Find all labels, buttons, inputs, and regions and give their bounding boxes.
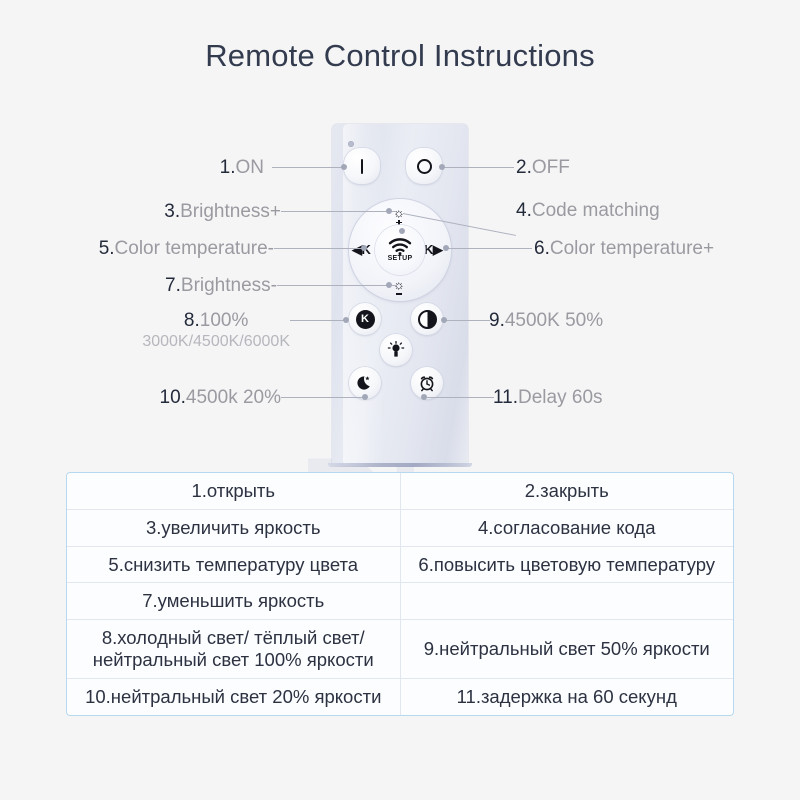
callout-3-number: 3. bbox=[164, 201, 180, 222]
callout-4-text: Code matching bbox=[532, 200, 660, 221]
table-row: 5.снизить температуру цвета 6.повысить ц… bbox=[67, 546, 733, 583]
callout-5-text: Color temperature- bbox=[115, 238, 274, 259]
full-brightness-button[interactable]: K bbox=[349, 303, 381, 335]
table-cell-3: 3.увеличить яркость bbox=[67, 509, 400, 546]
callout-3-text: Brightness+ bbox=[180, 201, 281, 222]
table-cell-11: 11.задержка на 60 секунд bbox=[400, 678, 733, 714]
callout-5-number: 5. bbox=[99, 238, 115, 259]
callout-9-text: 4500K 50% bbox=[505, 310, 603, 331]
callout-11-number: 11. bbox=[493, 387, 518, 408]
delay-timer-button[interactable] bbox=[411, 367, 443, 399]
half-circle-icon bbox=[418, 310, 437, 329]
brightness-down-button[interactable] bbox=[382, 274, 418, 298]
callout-10: 10.4500k 20% bbox=[160, 387, 282, 409]
callout-7-text: Brightness- bbox=[181, 275, 277, 296]
callout-1-number: 1. bbox=[220, 157, 236, 178]
brightness-up-button[interactable] bbox=[382, 202, 418, 226]
table-cell-4: 4.согласование кода bbox=[400, 509, 733, 546]
callout-2: 2.OFF bbox=[516, 157, 570, 179]
callout-2-number: 2. bbox=[516, 157, 532, 178]
callout-10-number: 10. bbox=[160, 387, 186, 408]
callout-8-number: 8. bbox=[184, 310, 200, 331]
callout-2-text: OFF bbox=[532, 157, 570, 178]
table-cell-10: 10.нейтральный свет 20% яркости bbox=[67, 678, 400, 714]
half-brightness-button[interactable] bbox=[411, 303, 443, 335]
page-title: Remote Control Instructions bbox=[0, 38, 800, 74]
table-row: 8.холодный свет/ тёплый свет/ нейтральны… bbox=[67, 620, 733, 679]
callout-9-number: 9. bbox=[489, 310, 505, 331]
setup-label: SETUP bbox=[388, 255, 413, 262]
callout-11: 11.Delay 60s bbox=[493, 387, 603, 409]
k-circle-icon: K bbox=[356, 310, 375, 329]
alarm-clock-icon bbox=[417, 373, 437, 393]
color-temperature-down-button[interactable] bbox=[350, 238, 376, 262]
table-cell-2: 2.закрыть bbox=[400, 473, 733, 509]
callout-7-number: 7. bbox=[165, 275, 181, 296]
callout-1: 1.ON bbox=[220, 157, 264, 179]
power-on-button[interactable] bbox=[344, 148, 380, 184]
callout-3: 3.Brightness+ bbox=[164, 201, 281, 223]
code-matching-setup-button[interactable]: SETUP bbox=[375, 225, 425, 275]
translation-table: 1.открыть 2.закрыть 3.увеличить яркость … bbox=[66, 472, 734, 716]
callout-6-text: Color temperature+ bbox=[550, 238, 714, 259]
table-cell-9: 9.нейтральный свет 50% яркости bbox=[400, 620, 733, 679]
power-off-icon bbox=[417, 159, 432, 174]
wifi-setup-icon bbox=[388, 238, 412, 255]
bulb-icon bbox=[386, 340, 406, 360]
callout-8-subtext: 3000K/4500K/6000K bbox=[142, 333, 290, 351]
callout-10-text: 4500k 20% bbox=[186, 387, 281, 408]
color-temperature-up-button[interactable] bbox=[424, 238, 450, 262]
callout-9: 9.4500K 50% bbox=[489, 310, 603, 332]
callout-11-text: Delay 60s bbox=[518, 387, 603, 408]
callout-6-number: 6. bbox=[534, 238, 550, 259]
callout-8: 8.100% 3000K/4500K/6000K bbox=[142, 310, 290, 351]
power-off-button[interactable] bbox=[406, 148, 442, 184]
table-cell-empty bbox=[400, 583, 733, 620]
callout-4: 4.Code matching bbox=[516, 200, 660, 222]
callout-1-text: ON bbox=[236, 157, 265, 178]
bulb-button[interactable] bbox=[380, 334, 412, 366]
moon-star-icon bbox=[355, 373, 375, 393]
callout-4-number: 4. bbox=[516, 200, 532, 221]
table-cell-7: 7.уменьшить яркость bbox=[67, 583, 400, 620]
callout-5: 5.Color temperature- bbox=[99, 238, 274, 260]
power-on-icon bbox=[361, 159, 364, 174]
table-cell-6: 6.повысить цветовую температуру bbox=[400, 546, 733, 583]
table-row: 10.нейтральный свет 20% яркости 11.задер… bbox=[67, 678, 733, 714]
table-cell-8: 8.холодный свет/ тёплый свет/ нейтральны… bbox=[67, 620, 400, 679]
night-light-button[interactable] bbox=[349, 367, 381, 399]
callout-7: 7.Brightness- bbox=[165, 275, 277, 297]
callout-6: 6.Color temperature+ bbox=[534, 238, 714, 260]
table-cell-1: 1.открыть bbox=[67, 473, 400, 509]
callout-8-text: 100% bbox=[200, 310, 249, 331]
table-row: 7.уменьшить яркость bbox=[67, 583, 733, 620]
table-cell-5: 5.снизить температуру цвета bbox=[67, 546, 400, 583]
table-row: 3.увеличить яркость 4.согласование кода bbox=[67, 509, 733, 546]
table-row: 1.открыть 2.закрыть bbox=[67, 473, 733, 509]
